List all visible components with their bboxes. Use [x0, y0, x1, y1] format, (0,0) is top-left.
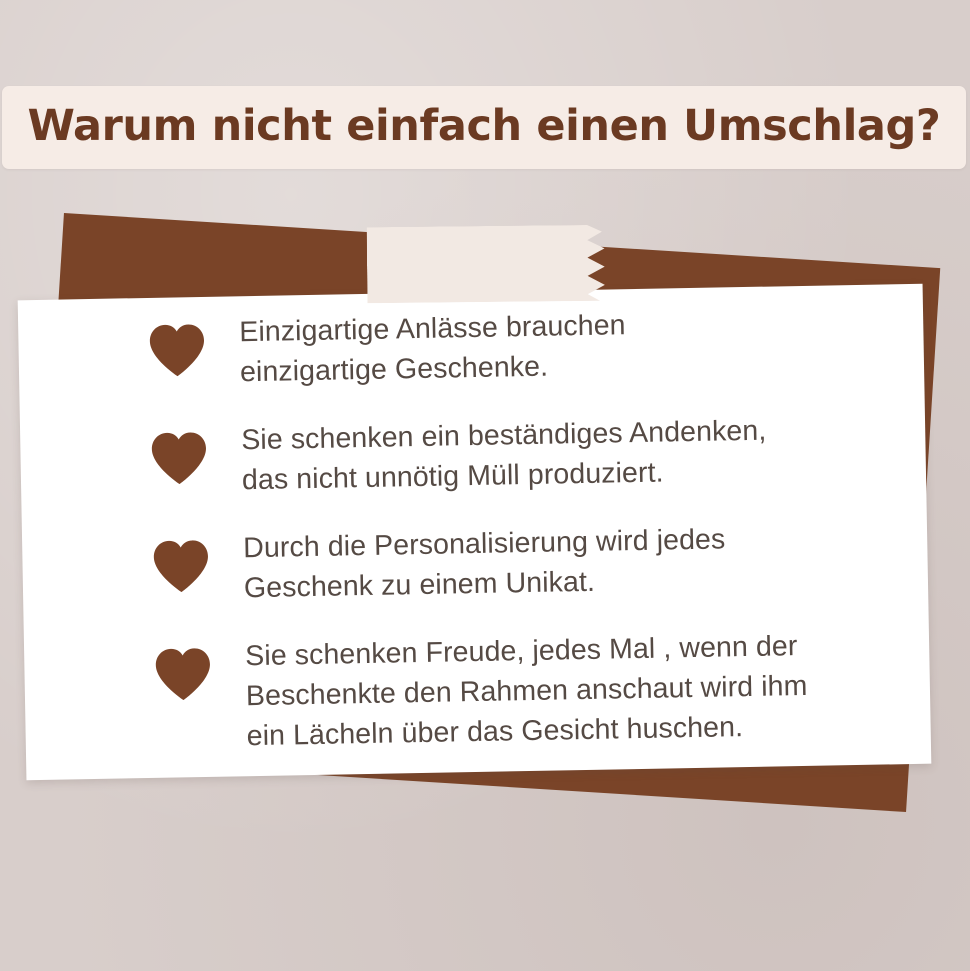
page-title: Warum nicht einfach einen Umschlag? [28, 105, 941, 151]
list-item-text: Sie schenken ein beständiges Andenken, d… [241, 411, 767, 501]
heart-icon [146, 319, 208, 382]
list-item-text: Sie schenken Freude, jedes Mal , wenn de… [245, 626, 809, 756]
content-card: Einzigartige Anlässe brauchen einzigarti… [18, 284, 932, 781]
list-item: Sie schenken Freude, jedes Mal , wenn de… [152, 624, 894, 758]
poster-canvas: Warum nicht einfach einen Umschlag? Einz… [0, 0, 970, 971]
list-item: Durch die Personalisierung wird jedes Ge… [150, 516, 891, 610]
benefits-list: Einzigartige Anlässe brauchen einzigarti… [146, 300, 894, 757]
heart-icon [152, 643, 214, 706]
heart-icon [148, 427, 210, 490]
list-item: Einzigartige Anlässe brauchen einzigarti… [146, 300, 887, 394]
title-banner: Warum nicht einfach einen Umschlag? [2, 86, 966, 169]
heart-icon [150, 535, 212, 598]
list-item-text: Einzigartige Anlässe brauchen einzigarti… [239, 305, 627, 392]
washi-tape-decoration [367, 225, 613, 304]
list-item-text: Durch die Personalisierung wird jedes Ge… [243, 519, 726, 608]
list-item: Sie schenken ein beständiges Andenken, d… [148, 408, 889, 502]
